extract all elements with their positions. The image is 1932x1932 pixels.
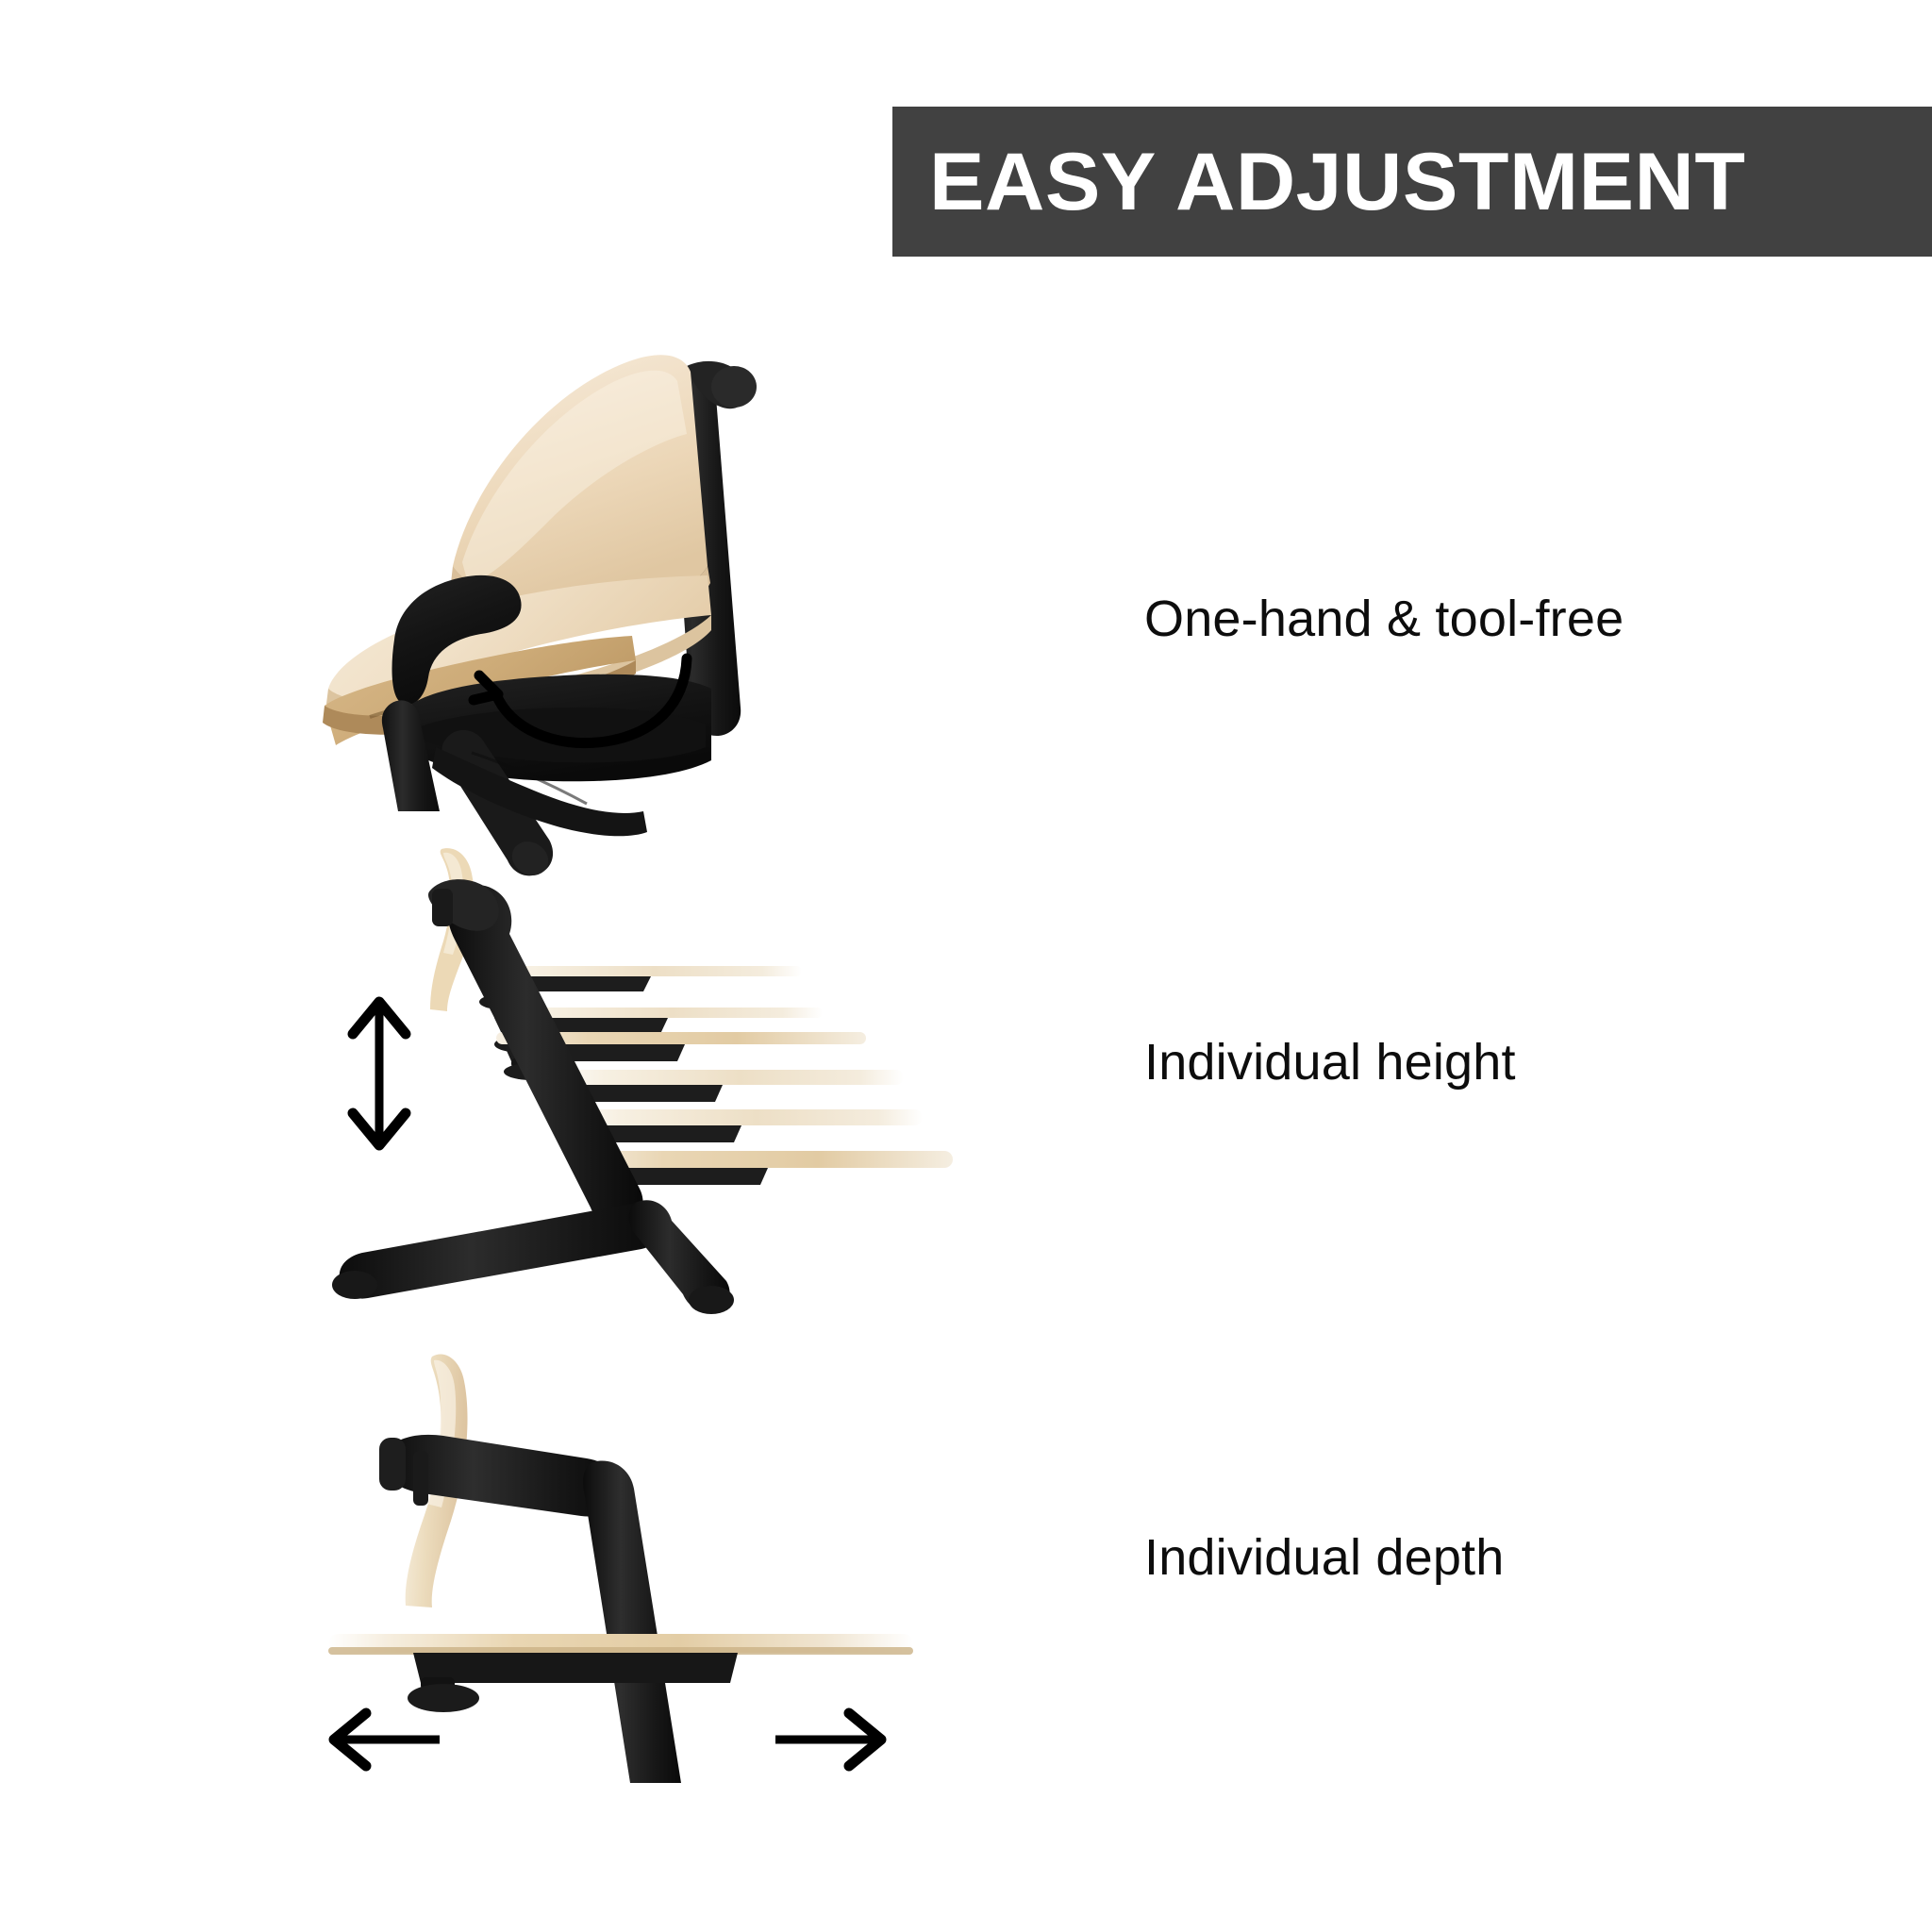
illustration-highchair-seat-rotation	[311, 283, 1123, 811]
depth-adjust-bracket	[408, 1653, 738, 1712]
infographic-page: EASY ADJUSTMENT	[0, 0, 1932, 1932]
illustration-highchair-height-positions	[311, 830, 1123, 1321]
feature-row-one-hand: One-hand & tool-free	[0, 283, 1932, 811]
vertical-double-arrow-icon	[353, 1002, 406, 1145]
chair-base-rear-foot	[332, 1201, 667, 1299]
chair-main-leg	[583, 1460, 681, 1783]
chair-base-front-foot	[629, 1200, 734, 1314]
feature-label-individual-depth: Individual depth	[1144, 1528, 1505, 1587]
illustration-highchair-depth-adjust	[311, 1340, 1123, 1811]
feature-label-individual-height: Individual height	[1144, 1033, 1516, 1091]
arrow-right-icon	[775, 1713, 881, 1766]
page-title: EASY ADJUSTMENT	[929, 142, 1746, 223]
seat-position-level	[540, 1070, 904, 1102]
depth-adjust-plate	[328, 1634, 913, 1655]
header-banner: EASY ADJUSTMENT	[892, 107, 1932, 257]
chair-top-bar	[379, 1435, 619, 1517]
arrow-left-icon	[334, 1713, 440, 1766]
feature-row-individual-height: Individual height	[0, 830, 1932, 1321]
feature-label-one-hand: One-hand & tool-free	[1144, 590, 1624, 648]
feature-row-individual-depth: Individual depth	[0, 1340, 1932, 1811]
